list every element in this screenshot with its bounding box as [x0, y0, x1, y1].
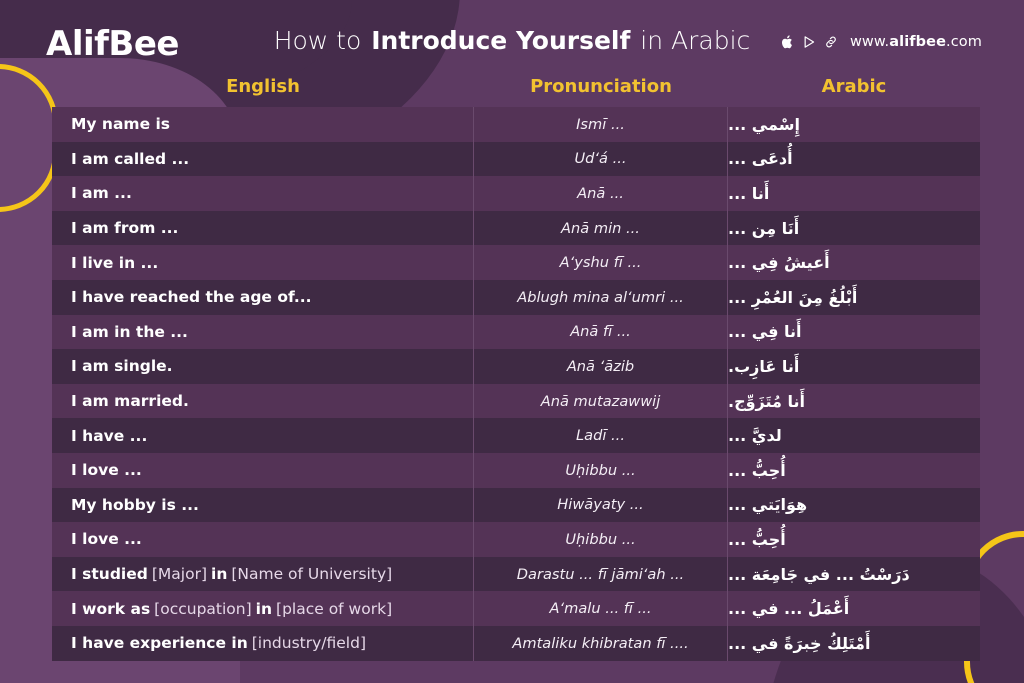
- table-row: I am married.Anā mutazawwijأَنا مُتَزَوِ…: [52, 384, 980, 419]
- cell-arabic: أُحِبُّ ...: [728, 453, 980, 488]
- cell-arabic: أَنا مُتَزَوِّج.: [728, 384, 980, 419]
- cell-pronunciation: Anā fī ...: [474, 315, 728, 350]
- english-bold-segment: in: [211, 565, 227, 583]
- cell-arabic: أُدعَى ...: [728, 142, 980, 177]
- table-row: I live in ...Aʻyshu fī ...أَعيشُ فِي ...: [52, 245, 980, 280]
- link-icon[interactable]: [824, 33, 839, 50]
- column-header-english: English: [52, 76, 474, 106]
- website-url-pre: www.: [850, 34, 889, 50]
- cell-pronunciation: Darastu ... fī jāmiʻah ...: [474, 557, 728, 592]
- website-url-name: alifbee: [889, 34, 946, 50]
- column-headers: English Pronunciation Arabic: [52, 76, 980, 106]
- english-bold-segment: I studied: [71, 565, 148, 583]
- cell-english: I love ...: [52, 522, 474, 557]
- cell-pronunciation: Anā mutazawwij: [474, 384, 728, 419]
- cell-arabic: أَبْلُغُ مِنَ العُمْرِ ...: [728, 280, 980, 315]
- cell-arabic: أَنا عَازِب.: [728, 349, 980, 384]
- cell-arabic: أَعيشُ فِي ...: [728, 245, 980, 280]
- brand-logo[interactable]: AlifBee: [46, 24, 179, 64]
- page-title-post: in Arabic: [632, 26, 750, 55]
- phrases-table: My name isIsmī ...إِسْمي ...I am called …: [52, 107, 980, 661]
- english-placeholder-segment: [occupation]: [154, 600, 251, 618]
- apple-icon[interactable]: [780, 33, 795, 50]
- brand-logo-text: AlifBee: [46, 24, 179, 64]
- cell-english: I am from ...: [52, 211, 474, 246]
- cell-english: I live in ...: [52, 245, 474, 280]
- header-bar: AlifBee How to Introduce Yourself in Ara…: [0, 0, 1024, 78]
- cell-english: I am in the ...: [52, 315, 474, 350]
- cell-arabic: أُحِبُّ ...: [728, 522, 980, 557]
- table-row: I love ...Uḥibbu ...أُحِبُّ ...: [52, 453, 980, 488]
- cell-pronunciation: Udʻá ...: [474, 142, 728, 177]
- table-row: I am called ...Udʻá ...أُدعَى ...: [52, 142, 980, 177]
- cell-pronunciation: Anā ...: [474, 176, 728, 211]
- english-bold-segment: I have experience in: [71, 634, 248, 652]
- cell-arabic: أَنا ...: [728, 176, 980, 211]
- cell-pronunciation: Uḥibbu ...: [474, 522, 728, 557]
- table-row: I have experience in [industry/field]Amt…: [52, 626, 980, 661]
- website-url-tld: .com: [946, 34, 982, 50]
- table-row: I have reached the age of...Ablugh mina …: [52, 280, 980, 315]
- cell-arabic: أَمْتَلِكُ خِبرَةً في ...: [728, 626, 980, 661]
- cell-english: I am married.: [52, 384, 474, 419]
- cell-english: I am called ...: [52, 142, 474, 177]
- english-bold-segment: in: [256, 600, 272, 618]
- column-header-pronunciation: Pronunciation: [474, 76, 728, 106]
- cell-arabic: هِوَايَتي ...: [728, 488, 980, 523]
- column-header-arabic: Arabic: [728, 76, 980, 106]
- table-row: I love ...Uḥibbu ...أُحِبُّ ...: [52, 522, 980, 557]
- cell-english: I work as [occupation]in [place of work]: [52, 591, 474, 626]
- cell-pronunciation: Uḥibbu ...: [474, 453, 728, 488]
- cell-pronunciation: Ismī ...: [474, 107, 728, 142]
- cell-english: My name is: [52, 107, 474, 142]
- cell-english: I am ...: [52, 176, 474, 211]
- poster-canvas: AlifBee How to Introduce Yourself in Ara…: [0, 0, 1024, 683]
- cell-english: I have experience in [industry/field]: [52, 626, 474, 661]
- english-placeholder-segment: [Major]: [152, 565, 207, 583]
- cell-pronunciation: Hiwāyaty ...: [474, 488, 728, 523]
- english-bold-segment: I work as: [71, 600, 150, 618]
- english-placeholder-segment: [Name of University]: [231, 565, 392, 583]
- table-row: My hobby is ...Hiwāyaty ...هِوَايَتي ...: [52, 488, 980, 523]
- cell-pronunciation: Anā ʻāzib: [474, 349, 728, 384]
- cell-english: I am single.: [52, 349, 474, 384]
- header-links: www.alifbee.com: [780, 33, 982, 50]
- cell-arabic: أَنا فِي ...: [728, 315, 980, 350]
- table-row: My name isIsmī ...إِسْمي ...: [52, 107, 980, 142]
- english-placeholder-segment: [place of work]: [276, 600, 392, 618]
- cell-pronunciation: Ablugh mina alʻumri ...: [474, 280, 728, 315]
- english-placeholder-segment: [industry/field]: [252, 634, 366, 652]
- cell-english: I have ...: [52, 418, 474, 453]
- table-row: I am ...Anā ...أَنا ...: [52, 176, 980, 211]
- table-row: I am from ...Anā min ...أَنَا مِن ...: [52, 211, 980, 246]
- cell-pronunciation: Ladī ...: [474, 418, 728, 453]
- cell-arabic: دَرَسْتُ ... في جَامِعَة ...: [728, 557, 980, 592]
- play-store-icon[interactable]: [802, 33, 817, 50]
- table-row: I have ...Ladī ...لديَّ ...: [52, 418, 980, 453]
- cell-english: I love ...: [52, 453, 474, 488]
- cell-english: I have reached the age of...: [52, 280, 474, 315]
- table-row: I am single.Anā ʻāzibأَنا عَازِب.: [52, 349, 980, 384]
- cell-arabic: لديَّ ...: [728, 418, 980, 453]
- table-row: I am in the ...Anā fī ...أَنا فِي ...: [52, 315, 980, 350]
- cell-pronunciation: Amtaliku khibratan fī ....: [474, 626, 728, 661]
- cell-english: I studied [Major]in [Name of University]: [52, 557, 474, 592]
- page-title-pre: How to: [274, 26, 370, 55]
- cell-english: My hobby is ...: [52, 488, 474, 523]
- table-row: I work as [occupation]in [place of work]…: [52, 591, 980, 626]
- website-url[interactable]: www.alifbee.com: [850, 34, 982, 50]
- cell-arabic: أَعْمَلُ ... في ...: [728, 591, 980, 626]
- cell-arabic: إِسْمي ...: [728, 107, 980, 142]
- cell-arabic: أَنَا مِن ...: [728, 211, 980, 246]
- page-title-bold: Introduce Yourself: [371, 26, 630, 55]
- cell-pronunciation: Aʻyshu fī ...: [474, 245, 728, 280]
- cell-pronunciation: Aʻmalu ... fī ...: [474, 591, 728, 626]
- table-row: I studied [Major]in [Name of University]…: [52, 557, 980, 592]
- cell-pronunciation: Anā min ...: [474, 211, 728, 246]
